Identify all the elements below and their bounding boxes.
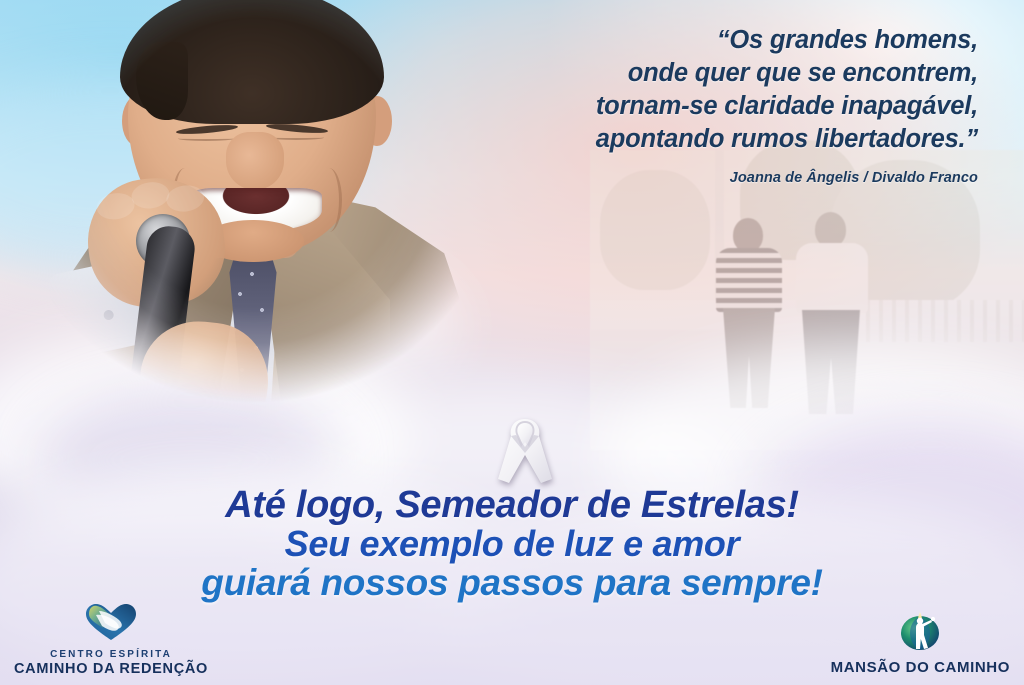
tribute-message: Até logo, Semeador de Estrelas! Seu exem…: [0, 485, 1024, 602]
logo-right-line-1: MANSÃO DO CAMINHO: [831, 659, 1010, 677]
heart-hands-icon: [83, 602, 139, 647]
quote-line-2: onde quer que se encontrem,: [418, 57, 978, 90]
logo-mansao-do-caminho[interactable]: MANSÃO DO CAMINHO: [831, 606, 1010, 677]
portrait-photo: [10, 0, 480, 442]
message-line-2: Seu exemplo de luz e amor: [0, 525, 1024, 563]
quote-line-4: apontando rumos libertadores.”: [418, 123, 978, 156]
message-line-1: Até logo, Semeador de Estrelas!: [0, 485, 1024, 525]
logo-left-line-1: CENTRO ESPÍRITA: [50, 649, 172, 661]
logo-left-line-2: CAMINHO DA REDENÇÃO: [14, 661, 208, 677]
message-line-3: guiará nossos passos para sempre!: [0, 563, 1024, 602]
mourning-ribbon-icon: [489, 409, 561, 489]
logo-centro-espirita[interactable]: CENTRO ESPÍRITA CAMINHO DA REDENÇÃO: [14, 602, 208, 677]
faded-walking-photo: [590, 150, 1024, 450]
quote-block: “Os grandes homens, onde quer que se enc…: [418, 24, 978, 186]
quote-line-3: tornam-se claridade inapagável,: [418, 90, 978, 123]
memorial-poster: “Os grandes homens, onde quer que se enc…: [0, 0, 1024, 685]
quote-line-1: “Os grandes homens,: [418, 24, 978, 57]
globe-figure-icon: [894, 606, 946, 657]
hair: [120, 0, 384, 124]
quote-attribution: Joanna de Ângelis / Divaldo Franco: [418, 170, 978, 186]
